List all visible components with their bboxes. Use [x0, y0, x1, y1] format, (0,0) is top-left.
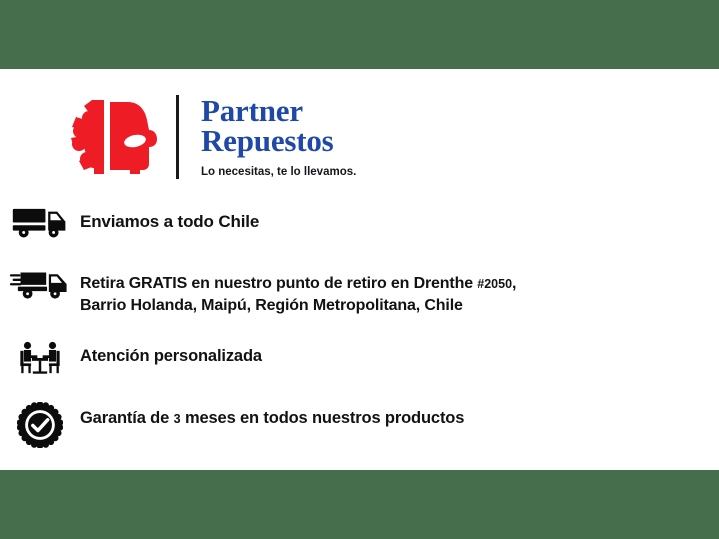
feature-list: Enviamos a todo Chile	[0, 204, 719, 462]
feature-guarantee: Garantía de 3 meses en todos nuestros pr…	[0, 400, 719, 452]
feature-pickup-line2: Barrio Holanda, Maipú, Región Metropolit…	[80, 297, 463, 314]
feature-shipping-text: Enviamos a todo Chile	[80, 204, 719, 233]
feature-pickup: Retira GRATIS en nuestro punto de retiro…	[0, 266, 719, 328]
feature-guarantee-text: Garantía de 3 meses en todos nuestros pr…	[80, 400, 719, 430]
banner-canvas: Partner Repuestos Lo necesitas, te lo ll…	[0, 69, 719, 470]
feature-pickup-text: Retira GRATIS en nuestro punto de retiro…	[80, 266, 719, 317]
logo-tagline: Lo necesitas, te lo llevamos.	[201, 165, 356, 179]
logo-divider	[176, 95, 179, 179]
feature-guarantee-prefix: Garantía de	[80, 409, 174, 427]
guarantee-seal-icon	[0, 400, 80, 448]
top-green-band	[0, 0, 719, 69]
people-at-table-icon	[0, 338, 80, 376]
feature-pickup-line1-b: ,	[512, 275, 516, 292]
logo-wordmark: Partner Repuestos Lo necesitas, te lo ll…	[201, 96, 356, 179]
feature-shipping: Enviamos a todo Chile	[0, 204, 719, 256]
feature-pickup-line1-a: Retira GRATIS en nuestro punto de retiro…	[80, 275, 477, 292]
feature-attention: Atención personalizada	[0, 338, 719, 390]
brand-logo: Partner Repuestos Lo necesitas, te lo ll…	[58, 95, 356, 179]
moving-truck-icon	[0, 266, 80, 300]
logo-title-line1: Partner	[201, 96, 356, 126]
feature-guarantee-suffix: meses en todos nuestros productos	[181, 409, 465, 427]
feature-guarantee-months: 3	[174, 412, 181, 426]
gear-car-logo-icon	[58, 98, 162, 176]
bottom-green-band	[0, 470, 719, 539]
feature-attention-text: Atención personalizada	[80, 338, 719, 367]
delivery-truck-icon	[0, 204, 80, 239]
feature-pickup-address-number: #2050	[477, 277, 512, 291]
logo-title-line2: Repuestos	[201, 126, 356, 156]
